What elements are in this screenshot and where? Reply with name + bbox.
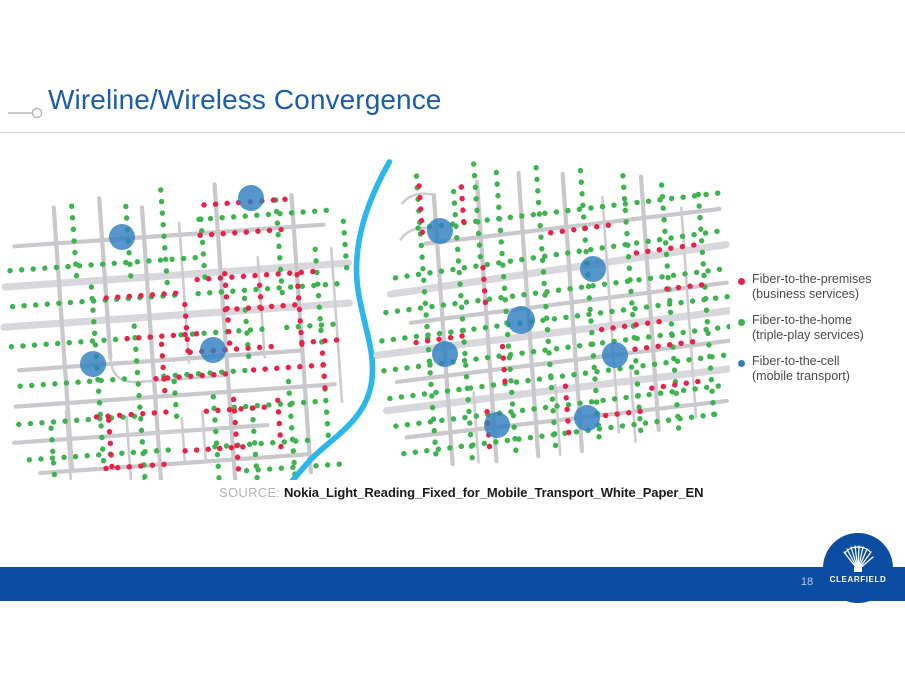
page-title: Wireline/Wireless Convergence xyxy=(48,84,441,116)
legend-dot-blue xyxy=(738,360,745,367)
source-caption: SOURCE: Nokia_Light_Reading_Fixed_for_Mo… xyxy=(219,485,703,500)
legend-dot-green xyxy=(738,319,745,326)
line-circle-icon xyxy=(8,106,44,120)
legend-item-home: Fiber-to-the-home (triple-play services) xyxy=(736,313,901,342)
legend-item-cell: Fiber-to-the-cell (mobile transport) xyxy=(736,354,901,383)
fiber-network-city-map: .rd { stroke:#c9c9cd; stroke-width:4.2; … xyxy=(0,150,730,480)
legend-item-premises: Fiber-to-the-premises (business services… xyxy=(736,272,901,301)
legend-label-line1: Fiber-to-the-premises xyxy=(752,272,901,287)
legend-label-line2: (triple-play services) xyxy=(752,328,901,343)
legend-label-line1: Fiber-to-the-home xyxy=(752,313,901,328)
legend-label-line2: (business services) xyxy=(752,287,901,302)
map-legend: Fiber-to-the-premises (business services… xyxy=(736,272,901,395)
footer-bar xyxy=(0,567,905,601)
legend-label-line2: (mobile transport) xyxy=(752,369,901,384)
brand-wordmark: CLEARFIELD xyxy=(823,575,893,584)
clearfield-logo: CLEARFIELD xyxy=(823,533,893,601)
page-number: 18 xyxy=(795,576,819,588)
slide-canvas: Wireline/Wireless Convergence .rd { stro… xyxy=(0,0,905,699)
source-label: SOURCE: xyxy=(219,485,280,500)
legend-label-line1: Fiber-to-the-cell xyxy=(752,354,901,369)
slide-header: Wireline/Wireless Convergence xyxy=(0,88,905,134)
source-value: Nokia_Light_Reading_Fixed_for_Mobile_Tra… xyxy=(284,485,703,500)
clearfield-shell-logo xyxy=(841,543,875,573)
title-divider xyxy=(0,132,905,133)
legend-dot-red xyxy=(738,278,745,285)
